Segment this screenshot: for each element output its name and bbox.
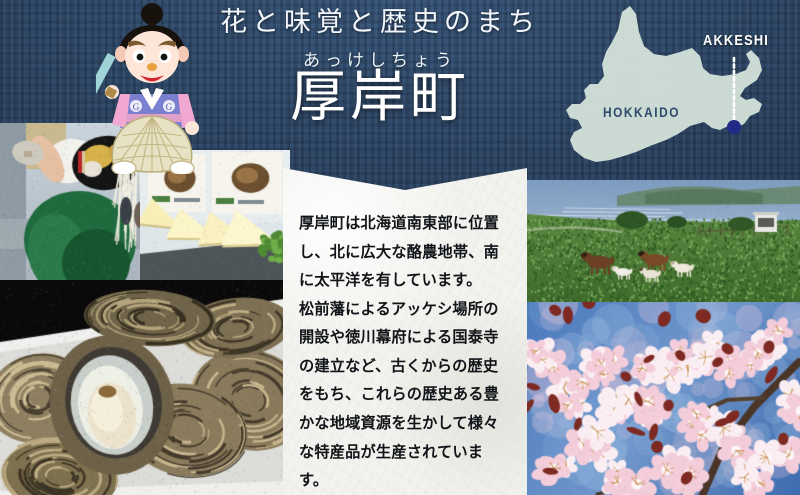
akkeshi-town-banner: AKKESHI HOKKAIDO 花と味覚と歴史のまち あっけしちょう 厚岸町	[0, 0, 800, 495]
photo-cherry-blossoms	[527, 302, 800, 495]
hokkaido-map: AKKESHI HOKKAIDO	[540, 0, 800, 200]
tagline: 花と味覚と歴史のまち	[215, 8, 545, 38]
photo-oysters	[0, 280, 290, 495]
page-title: 厚岸町	[215, 69, 545, 128]
description-paragraph-1: 厚岸町は北海道南東部に位置し、北に広大な酪農地帯、南に太平洋を有しています。	[299, 209, 511, 295]
map-label-akkeshi: AKKESHI	[703, 33, 769, 49]
svg-text:G: G	[133, 102, 140, 112]
description-paragraph-2: 松前藩によるアッケシ場所の開設や徳川幕府による国泰寺の建立など、古くからの歴史を…	[299, 295, 511, 495]
map-label-hokkaido: HOKKAIDO	[603, 104, 680, 120]
header-block: 花と味覚と歴史のまち あっけしちょう 厚岸町	[215, 8, 545, 127]
svg-text:G: G	[166, 102, 173, 112]
description-panel: 厚岸町は北海道南東部に位置し、北に広大な酪農地帯、南に太平洋を有しています。 松…	[283, 163, 527, 495]
mascot-character: G G	[96, 2, 214, 174]
mascot-topknot	[141, 3, 163, 25]
akkeshi-marker-group	[540, 0, 800, 200]
description-text: 厚岸町は北海道南東部に位置し、北に広大な酪農地帯、南に太平洋を有しています。 松…	[299, 209, 511, 495]
akkeshi-marker-dot	[727, 120, 741, 134]
